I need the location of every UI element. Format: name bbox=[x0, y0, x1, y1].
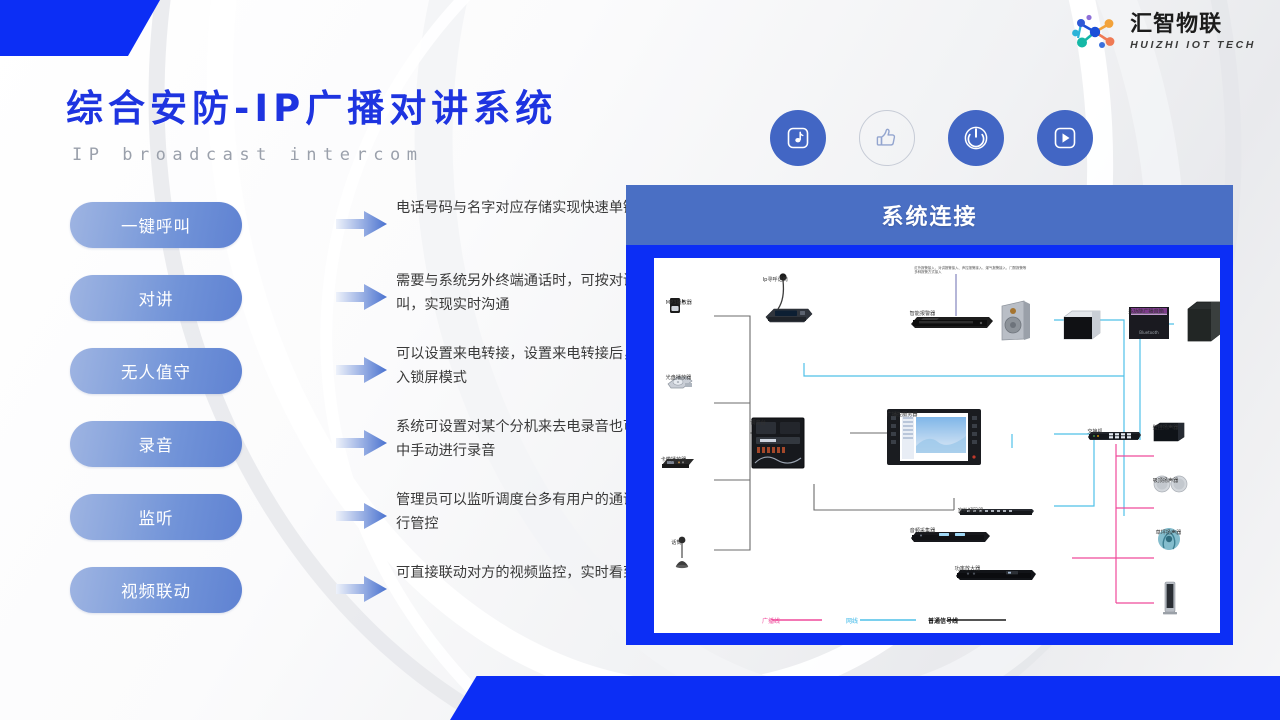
device-network-switch: 交换机 bbox=[1087, 425, 1103, 435]
feature-pill[interactable]: 监听 bbox=[70, 494, 242, 540]
feature-label: 一键呼叫 bbox=[121, 213, 191, 237]
brand-name-cn: 汇智物联 bbox=[1130, 13, 1256, 36]
music-note-icon-button[interactable] bbox=[770, 110, 826, 166]
device-lawn-speaker: 草坪扬声器 bbox=[1155, 526, 1182, 536]
device-label: 多功能广播音箱 bbox=[1128, 307, 1164, 315]
device-label: 调音台 bbox=[751, 418, 766, 426]
device-label: MP3播放器 bbox=[666, 298, 692, 306]
panel-title: 系统连接 bbox=[881, 199, 977, 231]
feature-row: 监听 管理员可以监听调度台多有用户的通话，实时进行管控 bbox=[70, 490, 630, 563]
device-audio-collector: 音频采集器 bbox=[909, 524, 936, 534]
device-power-amplifier: 功率放大器 bbox=[954, 562, 981, 572]
top-left-accent-shape bbox=[0, 0, 160, 56]
feature-label: 视频联动 bbox=[121, 578, 191, 602]
device-label: 话筒 bbox=[671, 538, 681, 546]
feature-icon-row bbox=[770, 110, 1093, 166]
device-label: 智能报警器 bbox=[909, 309, 935, 317]
arrow-right-icon bbox=[336, 210, 388, 238]
device-label: 吸顶扬声器 bbox=[1153, 476, 1179, 484]
arrow-right-icon bbox=[336, 429, 388, 457]
system-connection-panel: 系统连接 bbox=[626, 185, 1233, 645]
system-topology-diagram: 红外报警接入、对讲报警接入、声控报警接入、煤气报警接入、门禁报警等多种报警方式接… bbox=[654, 258, 1220, 633]
device-label: 交换机 bbox=[1087, 427, 1102, 435]
device-label: 广播控服务器 bbox=[887, 410, 918, 418]
legend-label-network: 网线 bbox=[846, 616, 858, 625]
arrow-right-icon bbox=[336, 283, 388, 311]
title-en: IP broadcast intercom bbox=[72, 145, 557, 165]
device-mixer-console: 调音台 bbox=[750, 416, 766, 426]
arrow-right-icon bbox=[336, 575, 388, 603]
page-title: 综合安防-IP广播对讲系统 IP broadcast intercom bbox=[66, 78, 557, 165]
device-label: 功率放大器 bbox=[955, 564, 981, 572]
diagram-legend: 广播线 网线 普通信号线 bbox=[762, 616, 958, 625]
device-label: 卡带播放器 bbox=[660, 455, 686, 463]
device-ceiling-speaker: 吸顶扬声器 bbox=[1152, 474, 1179, 484]
feature-pill[interactable]: 无人值守 bbox=[70, 348, 242, 394]
thumbs-up-icon-button[interactable] bbox=[859, 110, 915, 166]
feature-list: 一键呼叫 电话号码与名字对应存储实现快速单键拨号 对讲 bbox=[70, 198, 630, 636]
bottom-right-accent-shape bbox=[450, 676, 1280, 720]
device-smart-alarm: 智能报警器 bbox=[909, 307, 936, 317]
brand-name-en: HUIZHI IOT TECH bbox=[1130, 39, 1256, 51]
device-microphone: 话筒 bbox=[671, 536, 682, 546]
feature-row: 录音 系统可设置对某个分机来去电录音也可通话过程中手动进行录音 bbox=[70, 417, 630, 490]
device-label: 室外解码器 bbox=[957, 506, 983, 514]
device-label: 壁挂扬声器 bbox=[1153, 423, 1179, 431]
device-outdoor-decoder: 室外解码器 bbox=[957, 504, 984, 514]
feature-row: 对讲 需要与系统另外终端通话时，可按对讲发起呼叫，实现实时沟通 bbox=[70, 271, 630, 344]
feature-pill[interactable]: 一键呼叫 bbox=[70, 202, 242, 248]
feature-pill[interactable]: 录音 bbox=[70, 421, 242, 467]
device-ip-paging-mic: Ip寻呼话筒 bbox=[762, 273, 789, 283]
device-label: 光盘播放器 bbox=[666, 373, 692, 381]
slide-root: 汇智物联 HUIZHI IOT TECH 综合安防-IP广播对讲系统 IP br… bbox=[0, 0, 1280, 720]
feature-label: 对讲 bbox=[139, 286, 174, 310]
device-multifunction-speaker-c: Bluetooth 多功能广播音箱 bbox=[1127, 303, 1165, 315]
feature-row: 无人值守 可以设置来电转接，设置来电转接后，调度台进入锁屏模式 bbox=[70, 344, 630, 417]
legend-label-broadcast: 广播线 bbox=[762, 616, 780, 625]
feature-label: 无人值守 bbox=[121, 359, 191, 383]
device-label: Ip寻呼话筒 bbox=[762, 275, 787, 283]
panel-header: 系统连接 bbox=[626, 185, 1233, 245]
feature-row: 视频联动 可直接联动对方的视频监控，实时看到现场情况 bbox=[70, 563, 630, 636]
molecule-icon bbox=[1069, 12, 1121, 52]
feature-pill[interactable]: 对讲 bbox=[70, 275, 242, 321]
device-mp3-player: MP3播放器 bbox=[665, 296, 693, 306]
device-cassette-player: 卡带播放器 bbox=[660, 453, 687, 463]
feature-row: 一键呼叫 电话号码与名字对应存储实现快速单键拨号 bbox=[70, 198, 630, 271]
device-label: 草坪扬声器 bbox=[1156, 528, 1182, 536]
device-broadcast-server: 广播控服务器 bbox=[886, 408, 918, 418]
arrow-right-icon bbox=[336, 502, 388, 530]
brand-logo: 汇智物联 HUIZHI IOT TECH bbox=[1069, 12, 1256, 52]
power-icon-button[interactable] bbox=[948, 110, 1004, 166]
device-wall-speaker: 壁挂扬声器 bbox=[1152, 421, 1179, 431]
legend-label-signal: 普通信号线 bbox=[928, 616, 958, 625]
play-icon-button[interactable] bbox=[1037, 110, 1093, 166]
device-cd-player: 光盘播放器 bbox=[665, 371, 692, 381]
diagram-note: 红外报警接入、对讲报警接入、声控报警接入、煤气报警接入、门禁报警等多种报警方式接… bbox=[914, 266, 1029, 275]
title-cn: 综合安防-IP广播对讲系统 bbox=[66, 78, 557, 132]
svg-text:Bluetooth: Bluetooth bbox=[1139, 330, 1159, 335]
arrow-right-icon bbox=[336, 356, 388, 384]
feature-pill[interactable]: 视频联动 bbox=[70, 567, 242, 613]
device-label: 音频采集器 bbox=[909, 526, 935, 534]
feature-label: 录音 bbox=[139, 432, 174, 456]
feature-label: 监听 bbox=[139, 505, 174, 529]
diagram-container: 红外报警接入、对讲报警接入、声控报警接入、煤气报警接入、门禁报警等多种报警方式接… bbox=[654, 258, 1220, 633]
